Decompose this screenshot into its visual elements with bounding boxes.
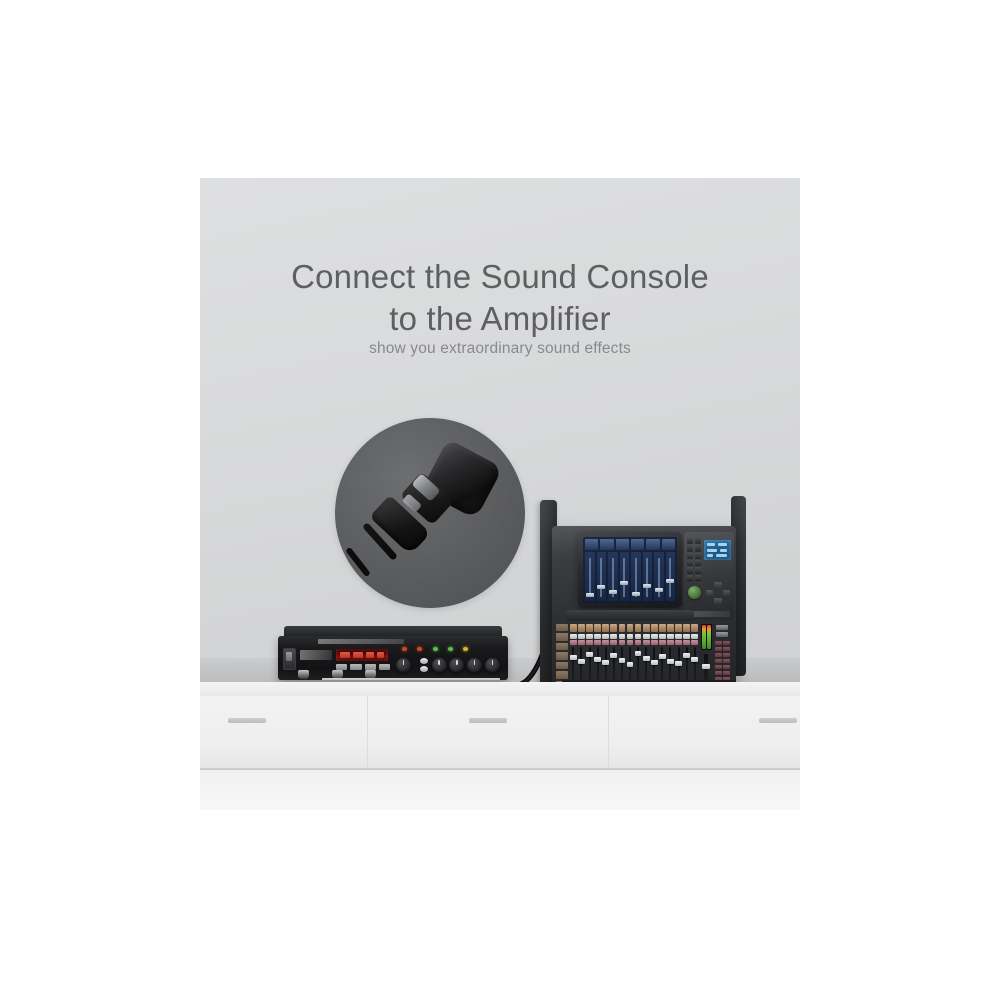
page-subtitle: show you extraordinary sound effects — [200, 340, 800, 358]
console-armrest — [566, 610, 694, 621]
cabinet-edge-line — [200, 769, 800, 770]
fader-8 — [627, 647, 634, 680]
console-surface — [552, 526, 736, 694]
amplifier-label-strip — [322, 678, 500, 680]
fader-5 — [602, 647, 609, 680]
xlr-connector-closeup — [335, 418, 525, 608]
rotary-encoder[interactable] — [688, 586, 701, 599]
navigation-dpad[interactable] — [706, 582, 730, 604]
drawer-right[interactable] — [609, 696, 800, 768]
level-meter — [701, 624, 712, 650]
amplifier-status-leds — [402, 647, 468, 652]
headline-line-2: to the Amplifier — [200, 298, 800, 340]
knob-echo[interactable] — [467, 658, 482, 673]
channel-select-row[interactable] — [570, 634, 698, 639]
fader-12 — [659, 647, 666, 680]
pod-label-strip — [688, 611, 730, 617]
drawer-handle-left[interactable] — [228, 718, 266, 723]
master-fader-cap[interactable] — [702, 664, 710, 669]
cabinet-top — [200, 682, 800, 697]
knob-mic-1[interactable] — [396, 658, 411, 673]
fader-16 — [691, 647, 698, 680]
fader-15 — [683, 647, 690, 680]
mic-jack-1 — [298, 670, 309, 679]
knob-treble[interactable] — [449, 658, 464, 673]
fader-4 — [594, 647, 601, 680]
headline-line-1: Connect the Sound Console — [291, 258, 709, 295]
channel-knob-row[interactable] — [570, 624, 698, 632]
cabinet-drawers — [200, 696, 800, 768]
power-amplifier[interactable] — [278, 626, 508, 688]
fader-3 — [586, 647, 593, 680]
fader-6 — [610, 647, 617, 680]
drawer-left[interactable] — [200, 696, 368, 768]
drawer-handle-right[interactable] — [759, 718, 797, 723]
tablet-display[interactable] — [578, 532, 682, 608]
microphone-cable-tail-icon — [345, 547, 371, 577]
pod-lcd-screen — [704, 540, 731, 560]
fader-2 — [578, 647, 585, 680]
fader-13 — [667, 647, 674, 680]
amplifier-led-display — [336, 649, 388, 661]
fader-11 — [651, 647, 658, 680]
knob-master[interactable] — [485, 658, 500, 673]
right-button-section[interactable] — [714, 624, 731, 688]
media-cabinet — [200, 682, 800, 810]
drawer-center[interactable] — [368, 696, 608, 768]
fader-7 — [619, 647, 626, 680]
page-title: Connect the Sound Console to the Amplifi… — [200, 256, 800, 339]
channel-fader-bank[interactable] — [570, 647, 698, 680]
amplifier-brand-logo — [318, 639, 404, 644]
fader-1 — [570, 647, 577, 680]
amplifier-front-panel — [278, 636, 508, 680]
fader-9 — [635, 647, 642, 680]
fader-14 — [675, 647, 682, 680]
tablet-toolbar — [585, 539, 675, 550]
channel-mute-row[interactable] — [570, 640, 698, 645]
amplifier-mode-buttons[interactable] — [414, 658, 433, 672]
input-gain-column[interactable] — [556, 624, 568, 688]
master-section[interactable] — [701, 624, 712, 688]
tablet-screen[interactable] — [583, 537, 677, 603]
drawer-handle-center[interactable] — [469, 718, 507, 723]
utility-buttons[interactable] — [716, 625, 728, 637]
cabinet-plinth — [200, 768, 800, 810]
product-marketing-image: Connect the Sound Console to the Amplifi… — [0, 0, 1000, 1000]
channel-bank[interactable] — [570, 624, 698, 688]
amplifier-badge-icons — [300, 650, 332, 660]
control-pod[interactable] — [684, 532, 734, 620]
tablet-channel-strips — [585, 552, 675, 601]
power-button[interactable] — [283, 648, 296, 670]
scene-panel: Connect the Sound Console to the Amplifi… — [200, 178, 800, 810]
fader-10 — [643, 647, 650, 680]
pod-keypad[interactable] — [687, 538, 701, 580]
knob-bass[interactable] — [432, 658, 447, 673]
amplifier-knob-row[interactable] — [396, 656, 500, 675]
digital-mixing-console[interactable] — [540, 474, 746, 712]
